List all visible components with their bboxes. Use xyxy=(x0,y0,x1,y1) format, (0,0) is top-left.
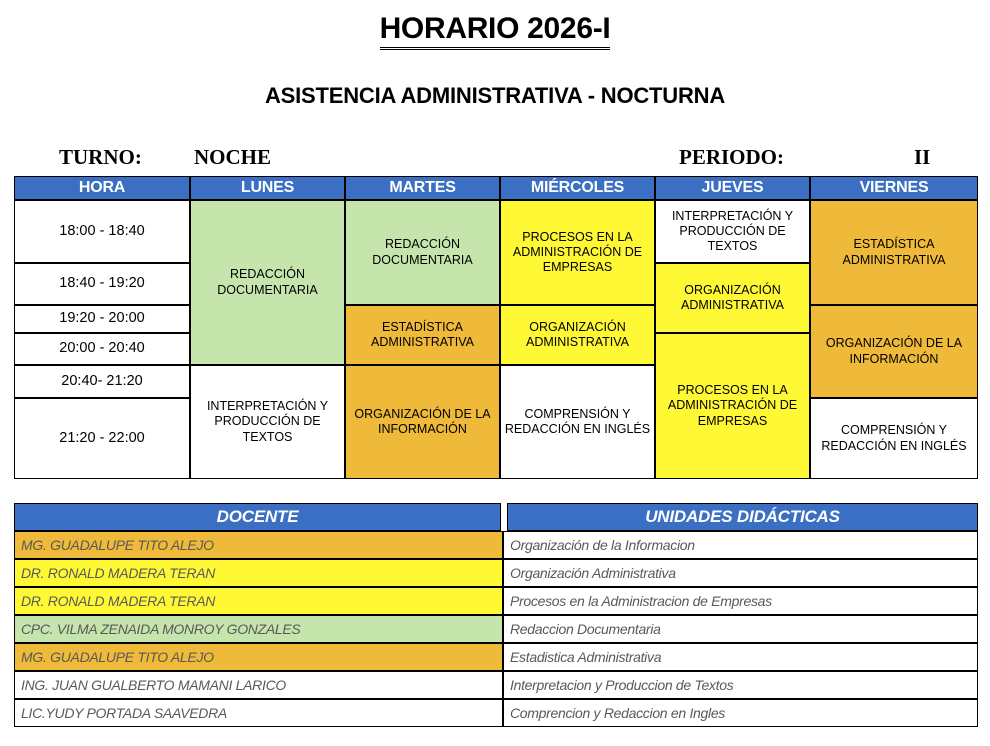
legend-subject-cell: Redaccion Documentaria xyxy=(503,615,978,643)
class-cell-miercoles: ORGANIZACIÓN ADMINISTRATIVA xyxy=(500,305,655,365)
schedule-header-hora: HORA xyxy=(14,176,190,200)
periodo-label: PERIODO: xyxy=(679,145,784,170)
legend-teacher-cell: ING. JUAN GUALBERTO MAMANI LARICO xyxy=(14,671,503,699)
class-cell-miercoles: PROCESOS EN LA ADMINISTRACIÓN DE EMPRESA… xyxy=(500,200,655,305)
legend-header-unidades-did-cticas: UNIDADES DIDÁCTICAS xyxy=(507,503,978,531)
class-cell-viernes: COMPRENSIÓN Y REDACCIÓN EN INGLÉS xyxy=(810,398,978,479)
time-slot-cell: 21:20 - 22:00 xyxy=(14,398,190,479)
meta-row: TURNO: NOCHE PERIODO: II xyxy=(14,145,978,173)
class-cell-jueves: INTERPRETACIÓN Y PRODUCCIÓN DE TEXTOS xyxy=(655,200,810,263)
legend-subject-cell: Estadistica Administrativa xyxy=(503,643,978,671)
schedule-header-jueves: JUEVES xyxy=(655,176,810,200)
schedule-header-viernes: VIERNES xyxy=(810,176,978,200)
legend-subject-cell: Comprencion y Redaccion en Ingles xyxy=(503,699,978,727)
legend-subject-cell: Organización de la Informacion xyxy=(503,531,978,559)
legend-teacher-cell: MG. GUADALUPE TITO ALEJO xyxy=(14,643,503,671)
legend-teacher-cell: DR. RONALD MADERA TERAN xyxy=(14,587,503,615)
schedule-header-lunes: LUNES xyxy=(190,176,345,200)
class-cell-martes: ORGANIZACIÓN DE LA INFORMACIÓN xyxy=(345,365,500,479)
legend-teacher-cell: LIC.YUDY PORTADA SAAVEDRA xyxy=(14,699,503,727)
page-subtitle: ASISTENCIA ADMINISTRATIVA - NOCTURNA xyxy=(0,83,990,109)
time-slot-cell: 18:00 - 18:40 xyxy=(14,200,190,263)
legend-subject-cell: Organización Administrativa xyxy=(503,559,978,587)
class-cell-lunes: INTERPRETACIÓN Y PRODUCCIÓN DE TEXTOS xyxy=(190,365,345,479)
legend-table: DOCENTEUNIDADES DIDÁCTICASMG. GUADALUPE … xyxy=(14,503,978,729)
time-slot-cell: 18:40 - 19:20 xyxy=(14,263,190,305)
class-cell-viernes: ESTADÍSTICA ADMINISTRATIVA xyxy=(810,200,978,305)
class-cell-jueves: PROCESOS EN LA ADMINISTRACIÓN DE EMPRESA… xyxy=(655,333,810,479)
class-cell-miercoles: COMPRENSIÓN Y REDACCIÓN EN INGLÉS xyxy=(500,365,655,479)
schedule-header-mi-rcoles: MIÉRCOLES xyxy=(500,176,655,200)
legend-teacher-cell: DR. RONALD MADERA TERAN xyxy=(14,559,503,587)
legend-teacher-cell: MG. GUADALUPE TITO ALEJO xyxy=(14,531,503,559)
legend-subject-cell: Procesos en la Administracion de Empresa… xyxy=(503,587,978,615)
legend-teacher-cell: CPC. VILMA ZENAIDA MONROY GONZALES xyxy=(14,615,503,643)
legend-subject-cell: Interpretacion y Produccion de Textos xyxy=(503,671,978,699)
periodo-value: II xyxy=(914,145,930,170)
page-title: HORARIO 2026-I xyxy=(0,12,990,46)
turno-value: NOCHE xyxy=(194,145,271,170)
class-cell-martes: ESTADÍSTICA ADMINISTRATIVA xyxy=(345,305,500,365)
time-slot-cell: 20:00 - 20:40 xyxy=(14,333,190,365)
schedule-table: HORALUNESMARTESMIÉRCOLESJUEVESVIERNES18:… xyxy=(14,176,978,479)
class-cell-lunes: REDACCIÓN DOCUMENTARIA xyxy=(190,200,345,365)
turno-label: TURNO: xyxy=(59,145,142,170)
time-slot-cell: 20:40- 21:20 xyxy=(14,365,190,398)
class-cell-viernes: ORGANIZACIÓN DE LA INFORMACIÓN xyxy=(810,305,978,398)
time-slot-cell: 19:20 - 20:00 xyxy=(14,305,190,333)
schedule-header-martes: MARTES xyxy=(345,176,500,200)
page-title-text: HORARIO 2026-I xyxy=(380,12,611,50)
class-cell-jueves: ORGANIZACIÓN ADMINISTRATIVA xyxy=(655,263,810,333)
legend-header-docente: DOCENTE xyxy=(14,503,501,531)
class-cell-martes: REDACCIÓN DOCUMENTARIA xyxy=(345,200,500,305)
